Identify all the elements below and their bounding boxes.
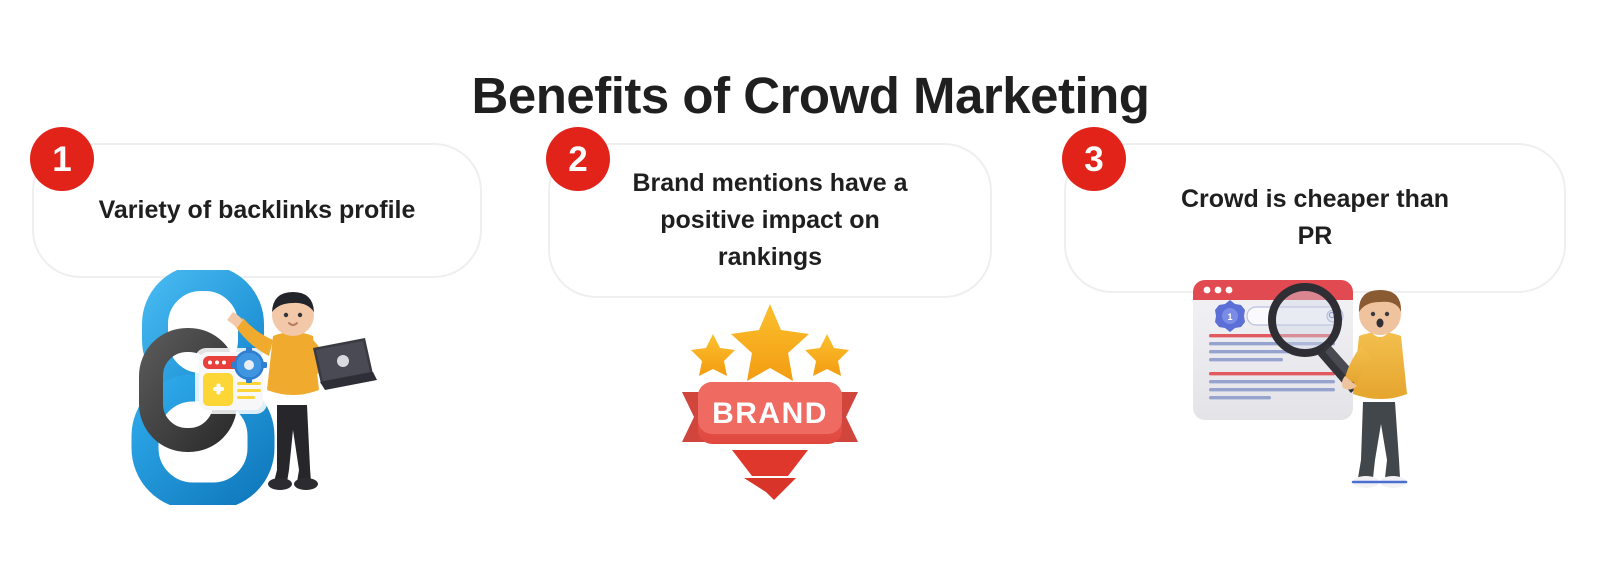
ribbon-tail bbox=[732, 450, 808, 500]
window-dot-2 bbox=[1215, 287, 1222, 294]
benefit-card-1-label: Variety of backlinks profile bbox=[71, 192, 444, 229]
star-left-icon bbox=[691, 334, 735, 376]
benefit-card-2-label: Brand mentions have a positive impact on… bbox=[577, 165, 963, 276]
benefit-number-badge-1: 1 bbox=[30, 127, 94, 191]
rating-stars bbox=[691, 304, 849, 381]
settings-card-icon bbox=[195, 347, 267, 414]
svg-text:1: 1 bbox=[1227, 312, 1232, 322]
backlinks-chain-illustration bbox=[32, 270, 482, 510]
benefit-item-1: Variety of backlinks profile 1 bbox=[32, 0, 482, 575]
benefit-card-2: Brand mentions have a positive impact on… bbox=[548, 143, 992, 298]
window-dot-1 bbox=[1204, 287, 1211, 294]
brand-banner-label: BRAND bbox=[712, 397, 828, 430]
benefit-number-badge-3: 3 bbox=[1062, 127, 1126, 191]
star-center-icon bbox=[731, 304, 809, 381]
benefit-item-2: Brand mentions have a positive impact on… bbox=[548, 0, 992, 575]
benefit-card-1: Variety of backlinks profile bbox=[32, 143, 482, 278]
star-right-icon bbox=[805, 334, 849, 376]
brand-banner: BRAND bbox=[698, 382, 842, 444]
window-dot-3 bbox=[1226, 287, 1233, 294]
benefit-card-3-label: Crowd is cheaper than PR bbox=[1137, 181, 1493, 255]
search-window-illustration: 1 bbox=[1064, 262, 1566, 502]
brand-badge-illustration: BRAND bbox=[548, 290, 992, 530]
laptop-icon bbox=[313, 338, 377, 390]
benefit-number-badge-2: 2 bbox=[546, 127, 610, 191]
benefit-item-3: Crowd is cheaper than PR 3 bbox=[1064, 0, 1566, 575]
